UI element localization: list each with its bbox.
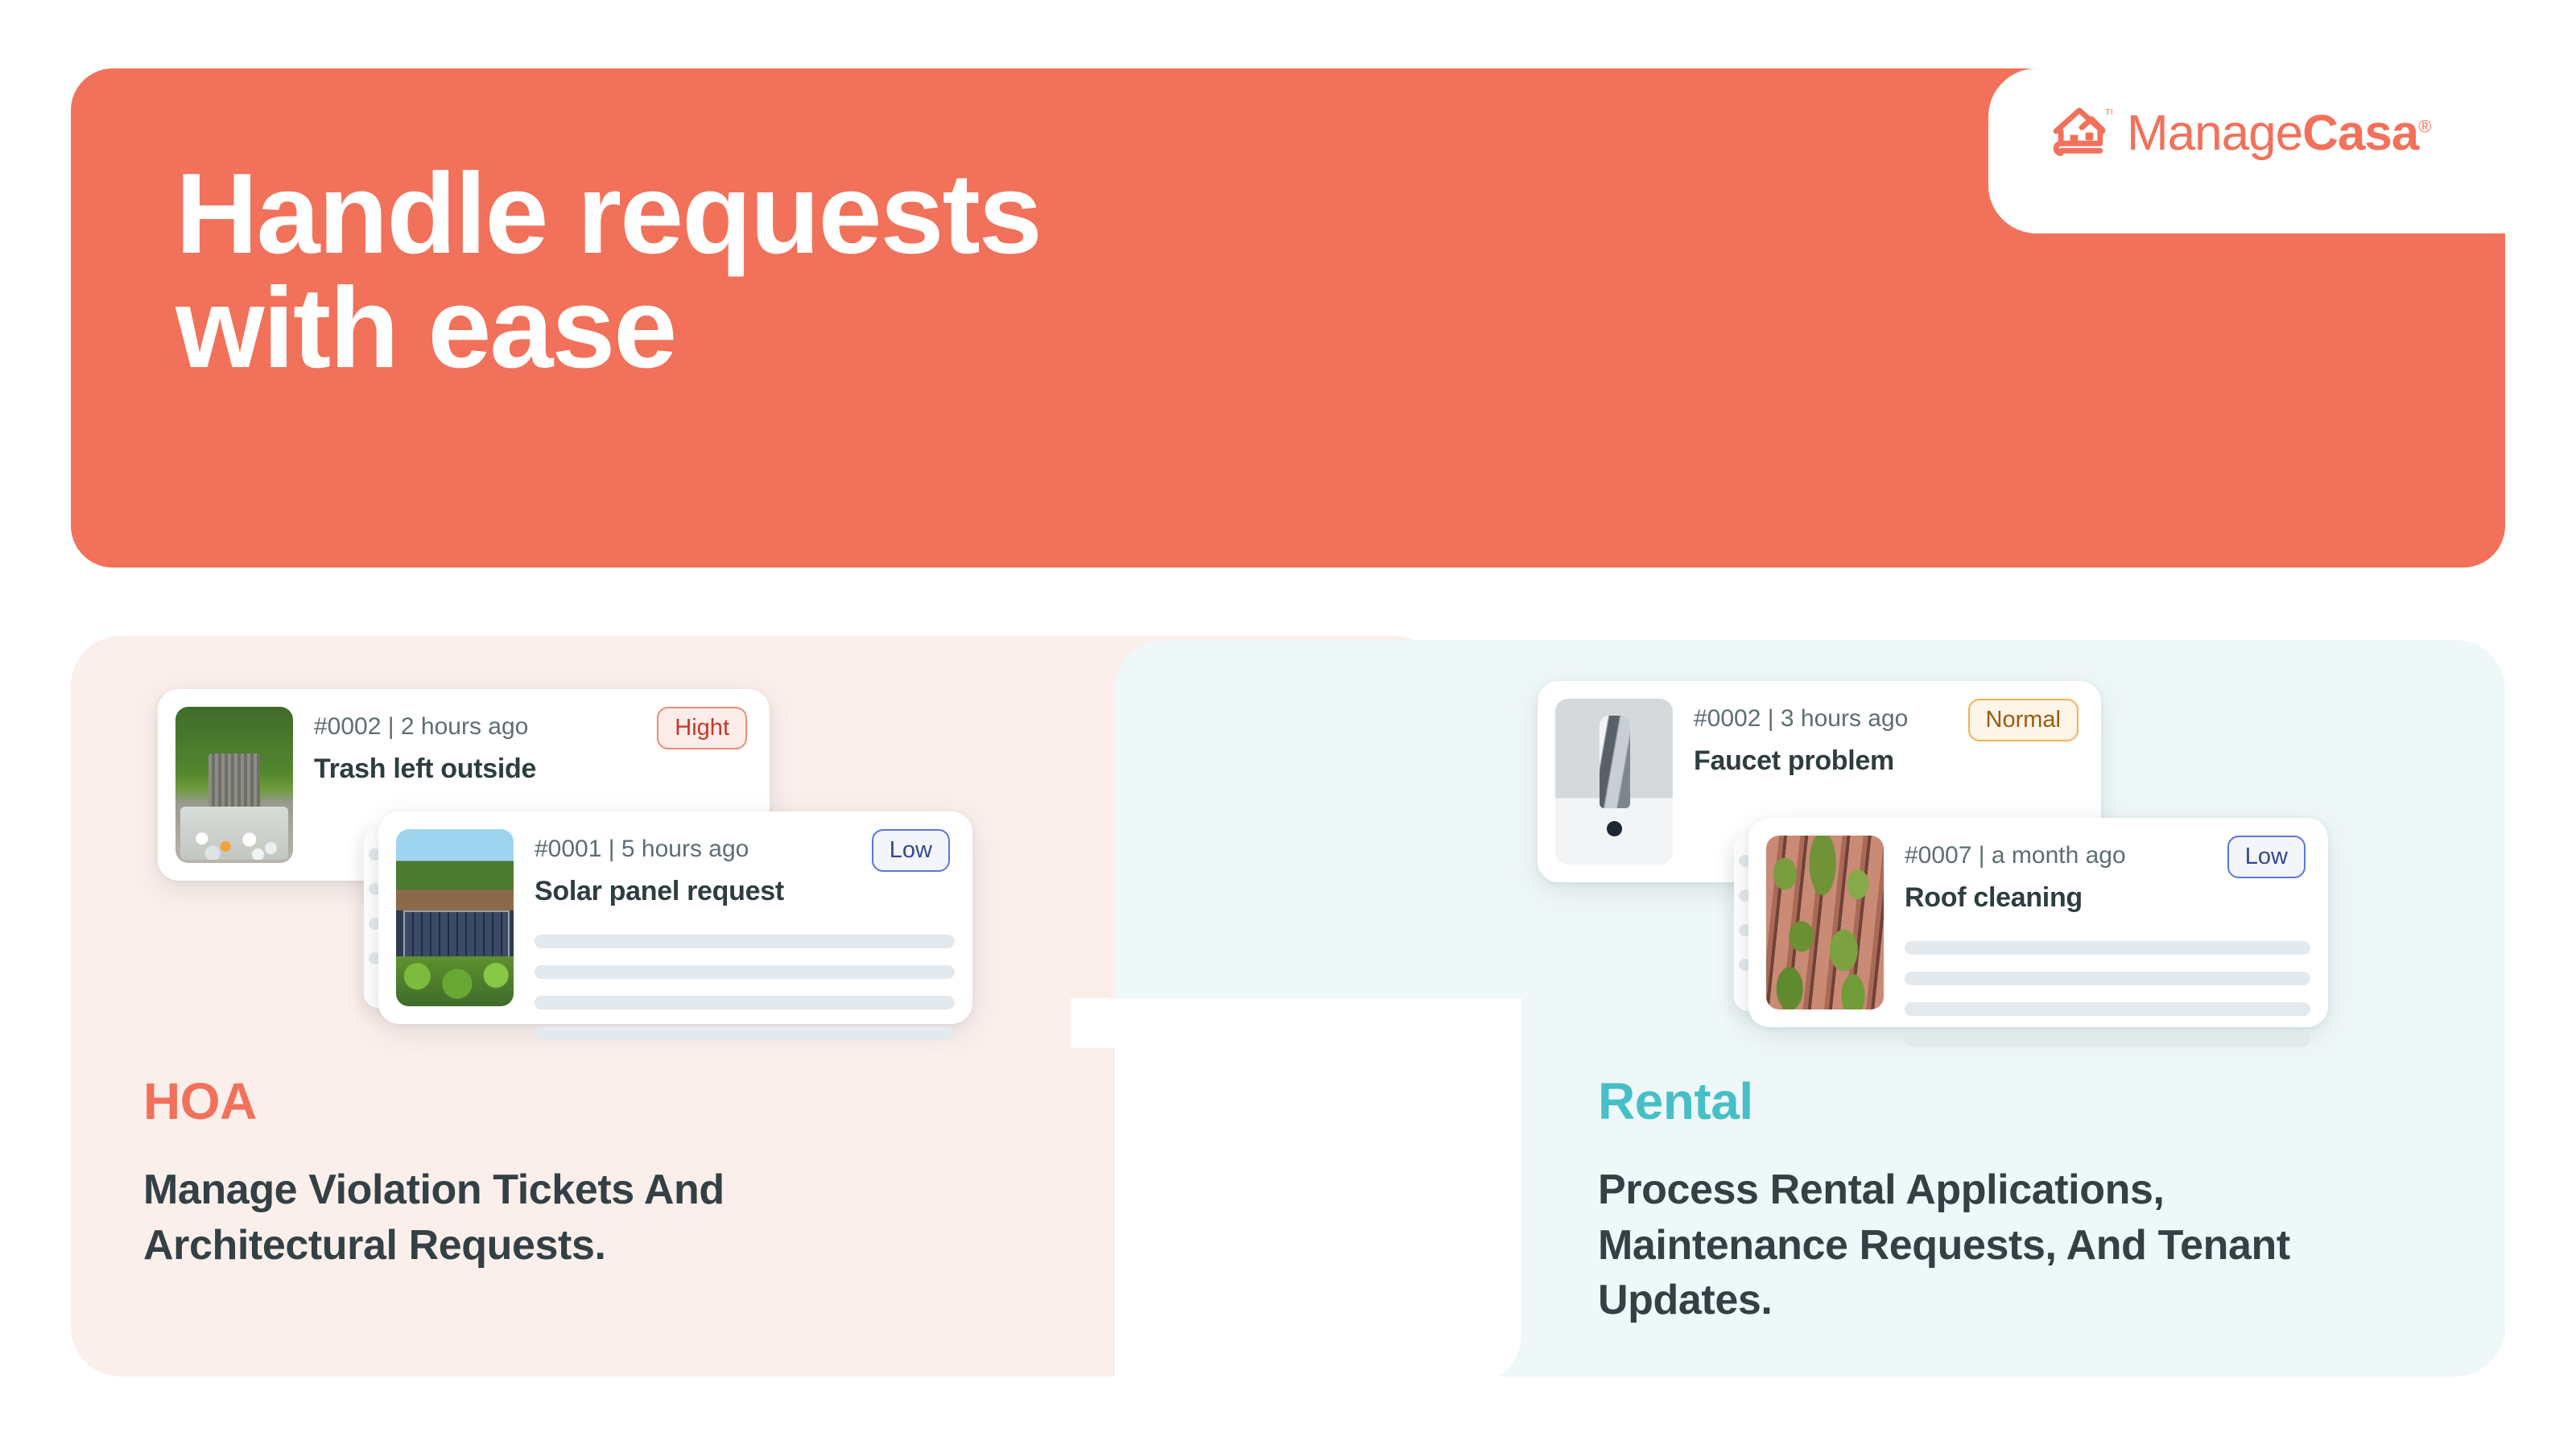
priority-badge[interactable]: Low [2227, 836, 2306, 878]
panel-rental-description: Process Rental Applications, Maintenance… [1598, 1162, 2483, 1328]
ticket-title: Solar panel request [535, 876, 955, 907]
skeleton-line [1905, 1002, 2310, 1016]
brand-word-casa: Casa [2302, 105, 2418, 161]
brand-logo[interactable]: TM ManageCasa® [2051, 103, 2431, 164]
ticket-title: Faucet problem [1694, 745, 2083, 777]
banner-notch-corner [1988, 68, 2037, 117]
managecasa-house-icon: TM [2051, 103, 2112, 164]
priority-badge[interactable]: Hight [657, 707, 747, 749]
panel-rental-notch [1115, 998, 1521, 1385]
panel-rental-notch-top [1071, 998, 1521, 1048]
mossy-roof-tiles-photo [1766, 836, 1884, 1009]
priority-badge[interactable]: Low [872, 829, 950, 872]
dripping-faucet-photo [1555, 699, 1673, 865]
brand-word-manage: Manage [2127, 105, 2302, 161]
ticket-title: Roof cleaning [1905, 882, 2310, 914]
skeleton-line [535, 1026, 955, 1040]
ticket-card[interactable]: #0001 | 5 hours ago Low Solar panel requ… [378, 811, 972, 1024]
registered-trademark-icon: ® [2418, 116, 2430, 136]
ticket-card-body: #0001 | 5 hours ago Low Solar panel requ… [535, 829, 955, 1006]
page-headline: Handle requests with ease [175, 157, 1544, 386]
ticket-card-body: #0007 | a month ago Low Roof cleaning [1905, 836, 2310, 1009]
brand-wordmark: ManageCasa® [2127, 109, 2431, 159]
ticket-description-skeleton [535, 935, 955, 1040]
trash-pile-photo [175, 707, 293, 863]
skeleton-line [1905, 1033, 2310, 1046]
skeleton-line [535, 935, 955, 948]
panel-rental-label: Rental [1598, 1075, 1753, 1127]
ticket-card[interactable]: #0007 | a month ago Low Roof cleaning [1748, 818, 2328, 1027]
panel-hoa-description: Manage Violation Tickets And Architectur… [143, 1162, 1029, 1273]
skeleton-line [1905, 972, 2310, 985]
panel-hoa-label: HOA [143, 1075, 257, 1127]
skeleton-line [535, 996, 955, 1009]
solar-panel-roof-photo [396, 829, 514, 1006]
ticket-title: Trash left outside [314, 753, 752, 785]
skeleton-line [535, 965, 955, 979]
skeleton-line [1905, 941, 2310, 955]
ticket-description-skeleton [1905, 941, 2310, 1046]
priority-badge[interactable]: Normal [1968, 699, 2079, 741]
svg-text:TM: TM [2105, 108, 2112, 118]
